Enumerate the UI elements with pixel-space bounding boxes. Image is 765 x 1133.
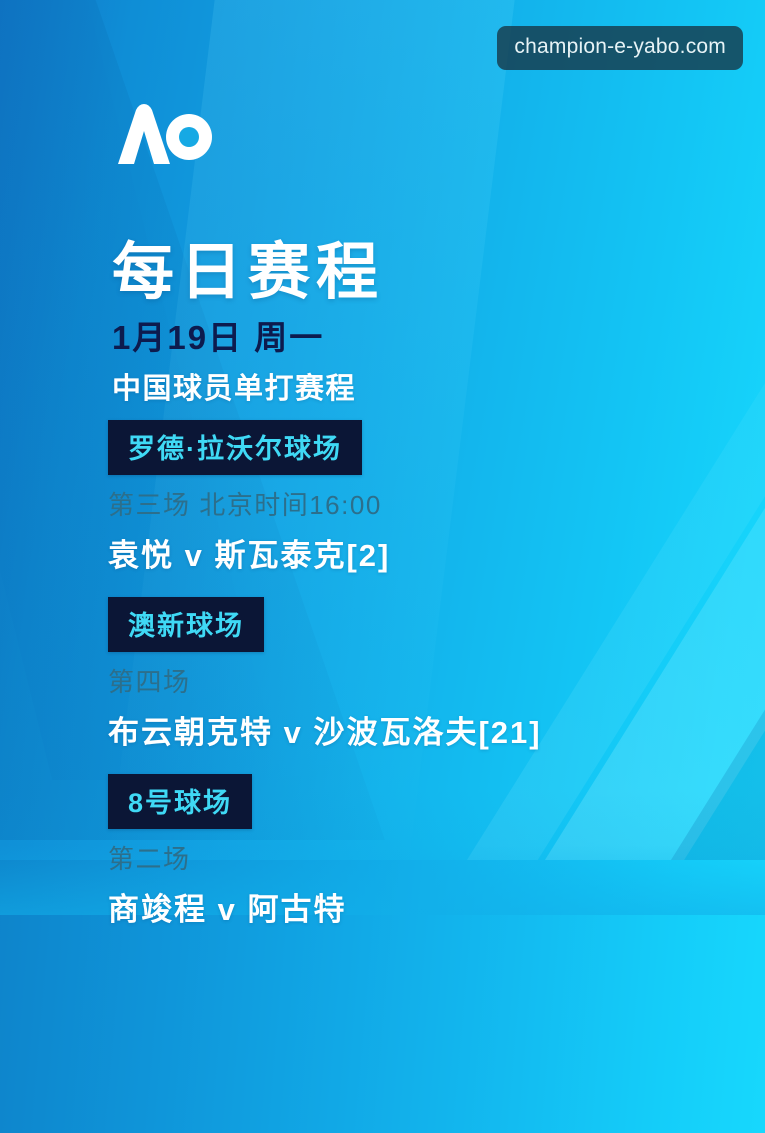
venue-badge: 罗德·拉沃尔球场 (108, 420, 362, 475)
match-info: 第二场 (108, 839, 728, 876)
match-section: 8号球场 第二场 商竣程 v 阿古特 (108, 774, 728, 929)
watermark-badge: champion-e-yabo.com (497, 26, 743, 70)
match-section: 罗德·拉沃尔球场 第三场 北京时间16:00 袁悦 v 斯瓦泰克[2] (108, 420, 728, 575)
subtitle-label: 中国球员单打赛程 (112, 365, 672, 407)
ao-logo-icon (116, 104, 212, 166)
match-sections: 罗德·拉沃尔球场 第三场 北京时间16:00 袁悦 v 斯瓦泰克[2] 澳新球场… (108, 420, 728, 951)
venue-badge: 8号球场 (108, 774, 252, 829)
match-players: 袁悦 v 斯瓦泰克[2] (108, 530, 728, 575)
page-title: 每日赛程 (112, 240, 672, 307)
venue-badge: 澳新球场 (108, 597, 264, 652)
match-section: 澳新球场 第四场 布云朝克特 v 沙波瓦洛夫[21] (108, 597, 728, 752)
match-players: 布云朝克特 v 沙波瓦洛夫[21] (108, 707, 728, 752)
match-info: 第三场 北京时间16:00 (108, 485, 728, 522)
match-players: 商竣程 v 阿古特 (108, 884, 728, 929)
date-label: 1月19日 周一 (112, 311, 672, 359)
poster-root: champion-e-yabo.com 每日赛程 1月19日 周一 中国球员单打… (0, 0, 765, 1133)
title-block: 每日赛程 1月19日 周一 中国球员单打赛程 (112, 240, 672, 407)
match-info: 第四场 (108, 662, 728, 699)
